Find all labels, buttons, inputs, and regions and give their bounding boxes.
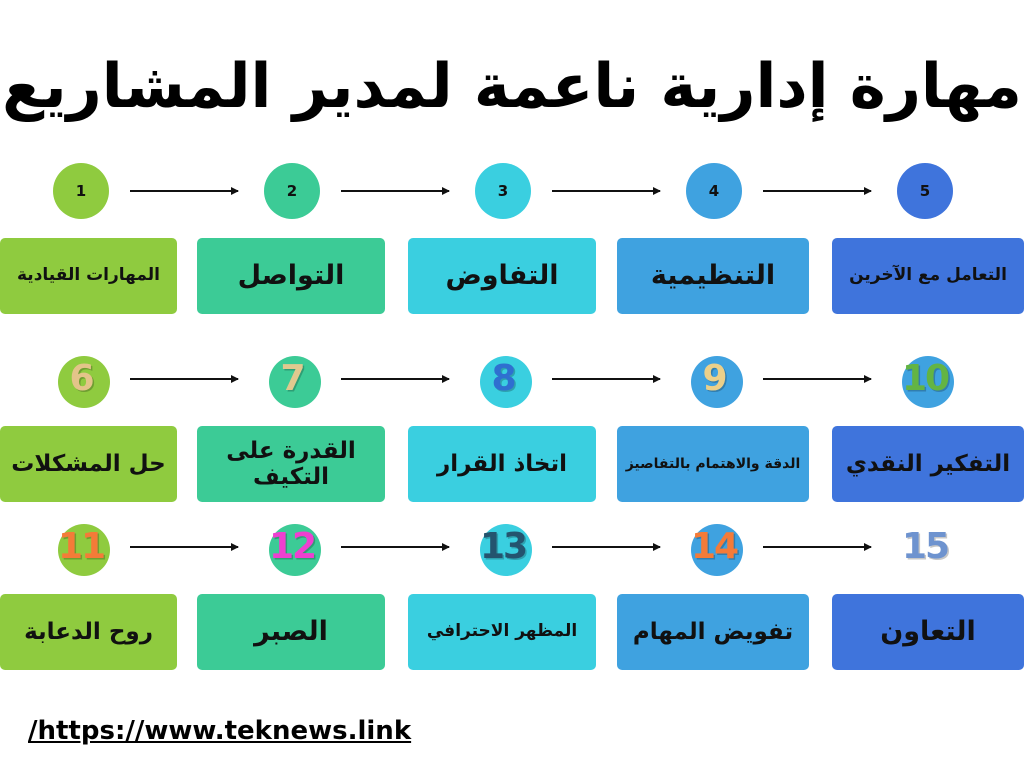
step-number-label: 14 <box>691 529 737 565</box>
step-number-10: 10 <box>894 348 956 410</box>
step-number-label: 13 <box>480 529 526 565</box>
step-number-1: 1 <box>50 160 112 222</box>
step-number-11: 11 <box>50 516 112 578</box>
arrow-connector <box>552 378 660 380</box>
step-disc: 4 <box>686 163 742 219</box>
arrow-connector <box>763 190 871 192</box>
step-number-15: 15 <box>894 516 956 578</box>
skill-row-3: 1112131415 روح الدعابةالصبرالمظهر الاحتر… <box>0 516 1024 674</box>
skill-box[interactable]: التعاون <box>832 594 1024 670</box>
skill-row-1: 12345 المهارات القياديةالتواصلالتفاوضالت… <box>0 160 1024 318</box>
step-disc: 7 <box>264 351 320 407</box>
source-link[interactable]: /https://www.teknews.link <box>28 716 411 746</box>
step-number-label: 8 <box>491 361 514 397</box>
box-strip-1: المهارات القياديةالتواصلالتفاوضالتنظيمية… <box>0 238 1024 318</box>
arrow-connector <box>552 190 660 192</box>
step-number-label: 7 <box>280 361 303 397</box>
skill-box[interactable]: المهارات القيادية <box>0 238 177 314</box>
step-disc: 8 <box>475 351 531 407</box>
step-disc: 1 <box>53 163 109 219</box>
step-disc: 3 <box>475 163 531 219</box>
arrow-connector <box>130 190 238 192</box>
step-disc: 13 <box>475 519 531 575</box>
skill-box[interactable]: حل المشكلات <box>0 426 177 502</box>
skill-box[interactable]: تفويض المهام <box>617 594 809 670</box>
step-disc: 12 <box>264 519 320 575</box>
step-number-8: 8 <box>472 348 534 410</box>
step-number-9: 9 <box>683 348 745 410</box>
arrow-connector <box>341 546 449 548</box>
step-number-label: 9 <box>702 361 725 397</box>
skill-box[interactable]: التنظيمية <box>617 238 809 314</box>
arrow-connector <box>341 378 449 380</box>
arrow-connector <box>552 546 660 548</box>
skill-box[interactable]: الصبر <box>197 594 385 670</box>
page-title: مهارة إدارية ناعمة لمدير المشاريع <box>0 56 1024 117</box>
step-number-12: 12 <box>261 516 323 578</box>
arrow-connector <box>130 546 238 548</box>
skill-box[interactable]: اتخاذ القرار <box>408 426 596 502</box>
step-disc: 5 <box>897 163 953 219</box>
box-strip-2: حل المشكلاتالقدرة على التكيفاتخاذ القرار… <box>0 426 1024 506</box>
arrow-connector <box>763 546 871 548</box>
step-number-label: 15 <box>902 529 948 565</box>
skill-box[interactable]: روح الدعابة <box>0 594 177 670</box>
skill-box[interactable]: التفاوض <box>408 238 596 314</box>
node-strip-3: 1112131415 <box>0 516 1024 578</box>
step-number-3: 3 <box>472 160 534 222</box>
step-disc: 2 <box>264 163 320 219</box>
arrow-connector <box>763 378 871 380</box>
skill-box[interactable]: التواصل <box>197 238 385 314</box>
skill-box[interactable]: الدقة والاهتمام بالتفاصيز <box>617 426 809 502</box>
step-number-13: 13 <box>472 516 534 578</box>
arrow-connector <box>130 378 238 380</box>
step-disc: 11 <box>53 519 109 575</box>
skill-box[interactable]: التعامل مع الآخرين <box>832 238 1024 314</box>
skill-box[interactable]: المظهر الاحترافي <box>408 594 596 670</box>
step-number-14: 14 <box>683 516 745 578</box>
step-number-5: 5 <box>894 160 956 222</box>
step-number-label: 12 <box>269 529 315 565</box>
step-number-4: 4 <box>683 160 745 222</box>
node-strip-2: 678910 <box>0 348 1024 410</box>
step-disc: 15 <box>897 519 953 575</box>
step-number-label: 6 <box>69 361 92 397</box>
skill-box[interactable]: التفكير النقدي <box>832 426 1024 502</box>
skill-box[interactable]: القدرة على التكيف <box>197 426 385 502</box>
skill-row-2: 678910 حل المشكلاتالقدرة على التكيفاتخاذ… <box>0 348 1024 506</box>
arrow-connector <box>341 190 449 192</box>
step-disc: 10 <box>897 351 953 407</box>
step-number-label: 10 <box>902 361 948 397</box>
step-disc: 14 <box>686 519 742 575</box>
node-strip-1: 12345 <box>0 160 1024 222</box>
box-strip-3: روح الدعابةالصبرالمظهر الاحترافيتفويض ال… <box>0 594 1024 674</box>
step-number-2: 2 <box>261 160 323 222</box>
step-number-6: 6 <box>50 348 112 410</box>
infographic-canvas: مهارة إدارية ناعمة لمدير المشاريع 12345 … <box>0 0 1024 768</box>
step-disc: 6 <box>53 351 109 407</box>
step-number-7: 7 <box>261 348 323 410</box>
step-disc: 9 <box>686 351 742 407</box>
step-number-label: 11 <box>58 529 104 565</box>
